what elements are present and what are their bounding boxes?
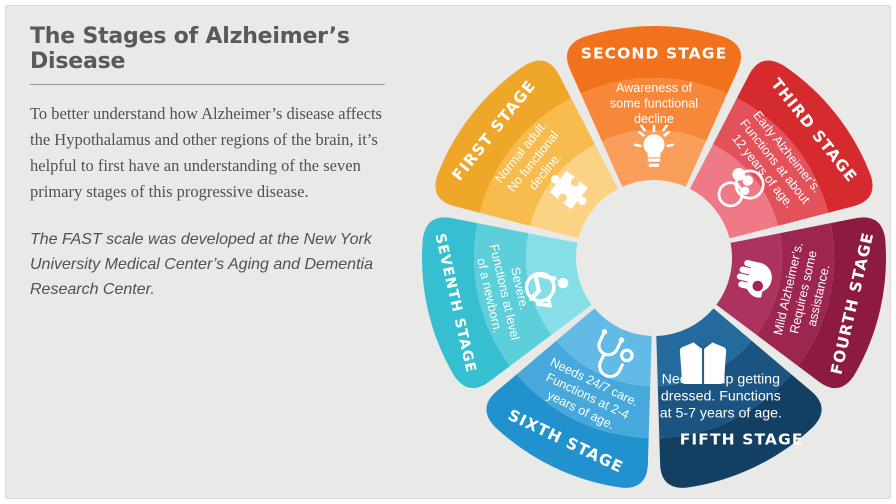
infographic-page: The Stages of Alzheimer’s Disease To bet… bbox=[0, 0, 896, 504]
stage-description-line: Awareness of bbox=[616, 81, 693, 95]
intro-panel: The Stages of Alzheimer’s Disease To bet… bbox=[28, 24, 408, 302]
stage-description-line: at 5-7 years of age. bbox=[660, 405, 782, 421]
title-divider bbox=[30, 84, 385, 85]
shirt-icon bbox=[680, 342, 726, 384]
stage-description-line: some functional bbox=[610, 96, 698, 110]
fast-scale-note: The FAST scale was developed at the New … bbox=[30, 227, 406, 302]
intro-paragraph: To better understand how Alzheimer’s dis… bbox=[30, 101, 406, 205]
stage-description-line: dressed. Functions bbox=[661, 388, 781, 404]
stage-name: FIFTH STAGE bbox=[680, 430, 804, 448]
stage-name: SECOND STAGE bbox=[581, 45, 728, 63]
page-title: The Stages of Alzheimer’s Disease bbox=[30, 24, 408, 74]
fast-stages-wheel: FIRST STAGENormal adult.No functionaldec… bbox=[410, 12, 896, 504]
stage-description-line: decline bbox=[634, 112, 674, 126]
